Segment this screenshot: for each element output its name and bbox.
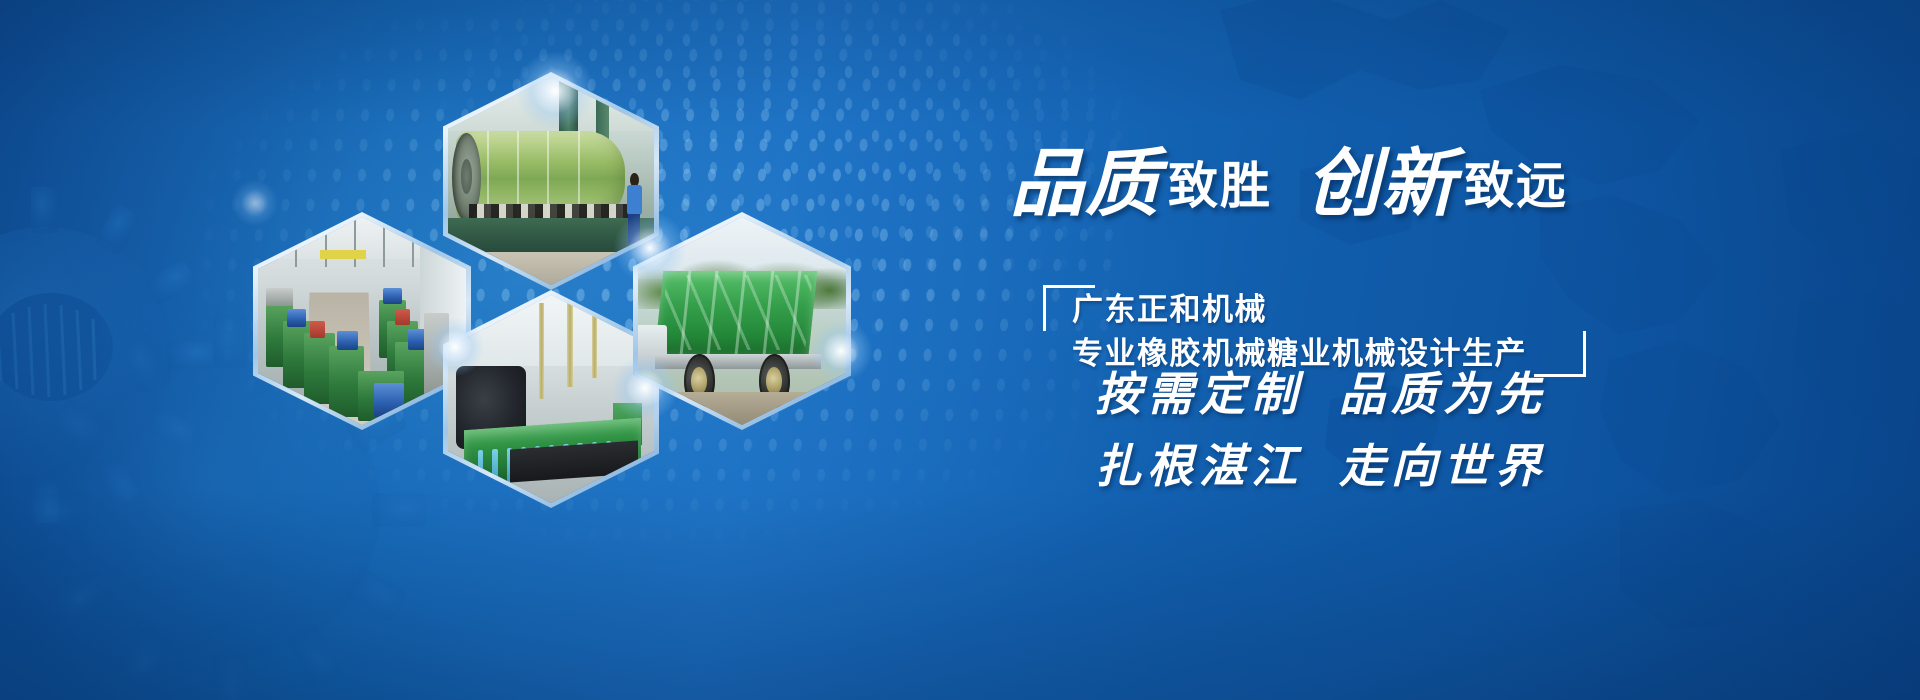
headline: 品质致胜创新致远: [1010, 124, 1568, 231]
slogan-1b: 品质为先: [1339, 369, 1547, 420]
headline-part1-regular: 致胜: [1168, 158, 1272, 214]
slogan-2b: 走向世界: [1339, 441, 1547, 492]
headline-part1-bold: 品质: [1010, 144, 1160, 226]
banner-text-block: 品质致胜创新致远 广东正和机械 专业橡胶机械糖业机械设计生产 按需定制品质为先 …: [0, 0, 1920, 700]
slogan-line-1: 按需定制品质为先: [1095, 358, 1547, 424]
slogan-1a: 按需定制: [1095, 369, 1303, 420]
slogan-2a: 扎根湛江: [1095, 441, 1303, 492]
headline-part2-bold: 创新: [1306, 144, 1456, 226]
headline-part2-regular: 致远: [1464, 158, 1568, 214]
slogan-line-2: 扎根湛江走向世界: [1095, 430, 1547, 496]
promo-banner: 品质致胜创新致远 广东正和机械 专业橡胶机械糖业机械设计生产 按需定制品质为先 …: [0, 0, 1920, 700]
subtitle-line-1: 广东正和机械: [1072, 288, 1527, 332]
